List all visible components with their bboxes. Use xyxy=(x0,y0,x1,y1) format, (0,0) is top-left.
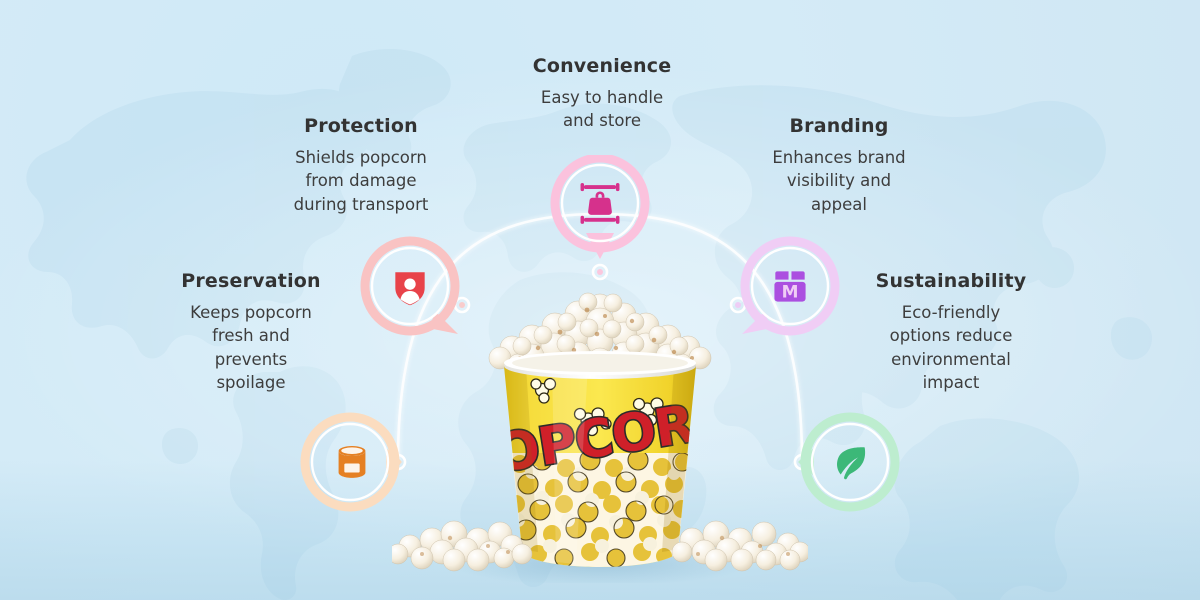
feature-text-branding: Branding Enhances brand visibility and a… xyxy=(732,115,946,216)
feature-desc-convenience: Easy to handle and store xyxy=(495,86,709,133)
feature-title-sustainability: Sustainability xyxy=(842,270,1060,292)
handbag-icon xyxy=(577,180,623,226)
feature-desc-sustainability: Eco-friendly options reduce environmenta… xyxy=(842,301,1060,395)
bucket-rim xyxy=(504,351,696,379)
feature-title-convenience: Convenience xyxy=(495,55,709,77)
feature-desc-branding: Enhances brand visibility and appeal xyxy=(732,146,946,216)
feature-text-protection: Protection Shields popcorn from damage d… xyxy=(252,115,470,216)
feature-text-convenience: Convenience Easy to handle and store xyxy=(495,55,709,133)
infographic-canvas: M xyxy=(0,0,1200,600)
feature-text-preservation: Preservation Keeps popcorn fresh and pre… xyxy=(146,270,356,395)
popcorn-bucket-image: POPCORN POPCORN POPCORN xyxy=(392,288,808,583)
feature-desc-protection: Shields popcorn from damage during trans… xyxy=(252,146,470,216)
pin-preservation[interactable] xyxy=(300,410,404,514)
leaf-icon xyxy=(827,439,873,485)
spilled-popcorn-left xyxy=(392,521,532,571)
feature-title-branding: Branding xyxy=(732,115,946,137)
feature-title-protection: Protection xyxy=(252,115,470,137)
pin-convenience[interactable] xyxy=(548,155,652,259)
feature-text-sustainability: Sustainability Eco-friendly options redu… xyxy=(842,270,1060,395)
feature-title-preservation: Preservation xyxy=(146,270,356,292)
jar-icon xyxy=(329,439,375,485)
pin-sustainability[interactable] xyxy=(796,410,900,514)
feature-desc-preservation: Keeps popcorn fresh and prevents spoilag… xyxy=(146,301,356,395)
